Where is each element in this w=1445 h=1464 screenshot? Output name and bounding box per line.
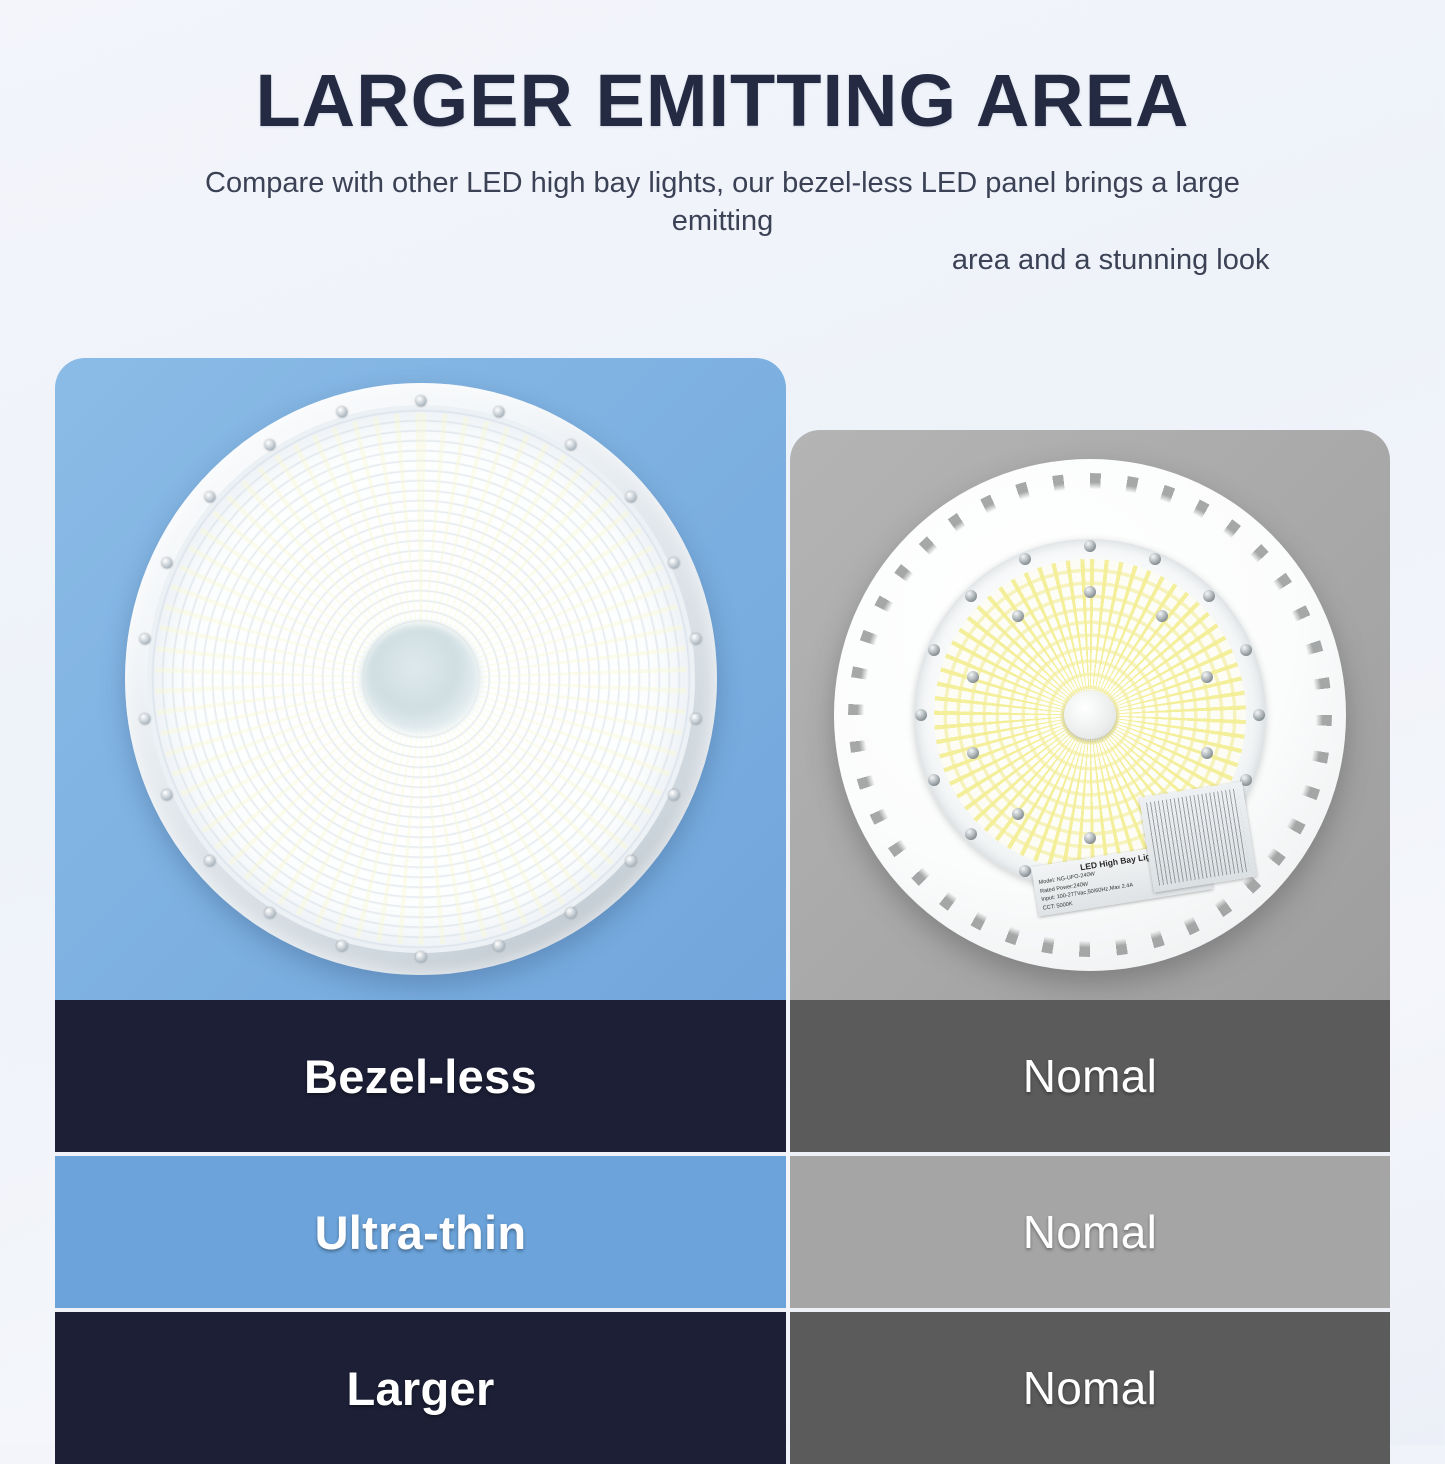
feature-row-larger: Larger — [55, 1312, 786, 1464]
lamp-bezel-less-illustration — [125, 383, 717, 975]
screw — [915, 709, 927, 721]
screw — [1203, 590, 1215, 602]
screw — [265, 439, 276, 450]
feature-label: Ultra-thin — [315, 1205, 527, 1260]
feature-row-bezel-less: Bezel-less — [55, 1000, 786, 1152]
screw — [967, 671, 979, 683]
feature-label: Bezel-less — [304, 1049, 537, 1104]
screw — [205, 856, 216, 867]
lamp-center-hub — [361, 624, 481, 734]
screw — [1156, 610, 1168, 622]
screw — [265, 908, 276, 919]
screw — [140, 634, 151, 645]
comparison-column-normal: LED High Bay Light E50/183 Model: NG-UFO… — [790, 358, 1390, 1464]
certification-microtext — [1146, 788, 1250, 885]
screw — [690, 713, 701, 724]
page-title: LARGER EMITTING AREA — [0, 0, 1445, 138]
header: LARGER EMITTING AREA Compare with other … — [0, 0, 1445, 279]
feature-label: Larger — [346, 1361, 494, 1416]
screw — [1201, 671, 1213, 683]
comparison-board: Bezel-less Ultra-thin Larger LED High Ba… — [55, 358, 1390, 1445]
lamp-center-hub — [1064, 691, 1116, 739]
screw — [1240, 644, 1252, 656]
subtitle-line-1: Compare with other LED high bay lights, … — [205, 167, 1240, 237]
screw — [1012, 808, 1024, 820]
screw — [1012, 610, 1024, 622]
feature-row-normal-2: Nomal — [790, 1156, 1390, 1308]
screw — [668, 558, 679, 569]
screw — [1019, 553, 1031, 565]
feature-label: Nomal — [1023, 1049, 1157, 1103]
lamp-normal-illustration: LED High Bay Light E50/183 Model: NG-UFO… — [834, 459, 1346, 971]
screw — [690, 634, 701, 645]
screw — [565, 908, 576, 919]
screw — [205, 491, 216, 502]
feature-row-ultra-thin: Ultra-thin — [55, 1156, 786, 1308]
comparison-column-bezel-less: Bezel-less Ultra-thin Larger — [55, 358, 786, 1464]
feature-row-normal-3: Nomal — [790, 1312, 1390, 1464]
subtitle-line-2: area and a stunning look — [168, 241, 1278, 279]
screw — [415, 395, 426, 406]
screw — [928, 644, 940, 656]
screw — [1084, 832, 1096, 844]
screw — [162, 558, 173, 569]
screw — [928, 774, 940, 786]
screw — [1084, 540, 1096, 552]
product-photo-normal: LED High Bay Light E50/183 Model: NG-UFO… — [790, 430, 1390, 1000]
screw — [1253, 709, 1265, 721]
product-certification-label — [1139, 781, 1257, 892]
screw — [625, 491, 636, 502]
feature-row-normal-1: Nomal — [790, 1000, 1390, 1152]
screw — [1149, 553, 1161, 565]
screw — [493, 407, 504, 418]
page-subtitle: Compare with other LED high bay lights, … — [168, 164, 1278, 279]
feature-label: Nomal — [1023, 1205, 1157, 1259]
screw — [337, 407, 348, 418]
screw — [965, 590, 977, 602]
screw — [415, 952, 426, 963]
screw — [1201, 747, 1213, 759]
screw — [1084, 586, 1096, 598]
screw — [140, 713, 151, 724]
screw — [493, 940, 504, 951]
screw — [965, 828, 977, 840]
screw — [625, 856, 636, 867]
screw — [668, 789, 679, 800]
feature-label: Nomal — [1023, 1361, 1157, 1415]
screw — [1019, 865, 1031, 877]
screw — [337, 940, 348, 951]
screw — [967, 747, 979, 759]
product-photo-bezel-less — [55, 358, 786, 1000]
screw — [162, 789, 173, 800]
screw — [565, 439, 576, 450]
